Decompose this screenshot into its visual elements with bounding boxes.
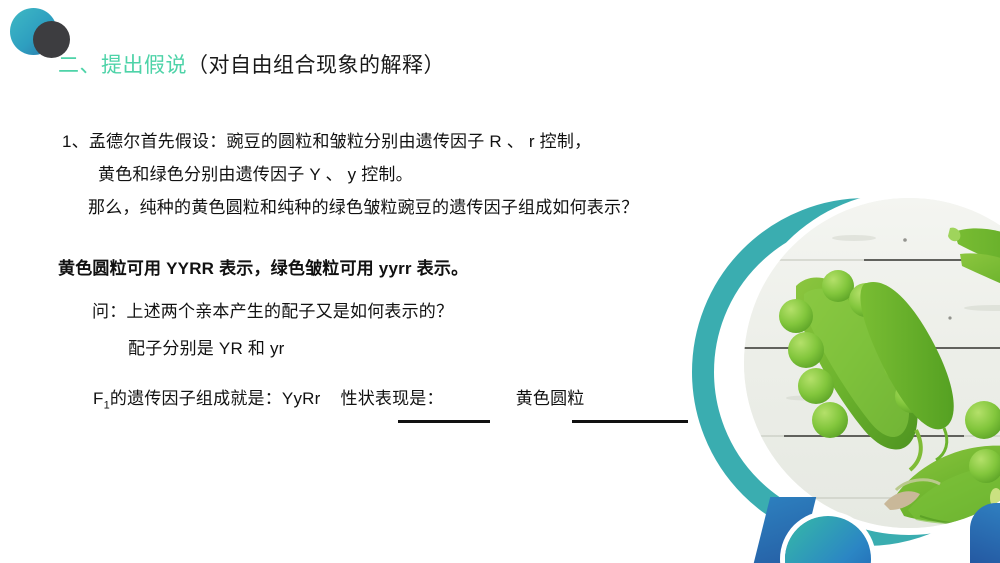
f1-label-prefix: F — [93, 389, 104, 408]
phenotype-answer: 黄色圆粒 — [516, 389, 585, 408]
answer-underline-genotype — [398, 420, 490, 423]
body-line-6-answer: 配子分别是 YR 和 yr — [128, 337, 285, 361]
heading-plain-text: （对自由组合现象的解释） — [187, 54, 445, 77]
slide-heading: 二、提出假说（对自由组合现象的解释） — [58, 52, 445, 80]
body-line-3: 那么，纯种的黄色圆粒和纯种的绿色皱粒豌豆的遗传因子组成如何表示？ — [88, 196, 638, 220]
body-line-4-emphasis: 黄色圆粒可用 YYRR 表示，绿色皱粒可用 yyrr 表示。 — [58, 257, 468, 281]
body-line-2: 黄色和绿色分别由遗传因子 Y 、 y 控制。 — [98, 163, 413, 187]
slide-canvas: 二、提出假说（对自由组合现象的解释） 1、孟德尔首先假设：豌豆的圆粒和皱粒分别由… — [0, 0, 1000, 563]
f1-label-rest: 的遗传因子组成就是： — [110, 389, 282, 408]
f1-genotype-answer: YyRr — [282, 389, 321, 408]
phenotype-label: 性状表现是： — [341, 389, 444, 408]
heading-accent-text: 二、提出假说 — [58, 54, 187, 77]
body-line-5-question: 问：上述两个亲本产生的配子又是如何表示的？ — [92, 300, 453, 324]
f1-summary-line: F1的遗传因子组成就是：YyRr性状表现是：黄色圆粒 — [93, 387, 585, 417]
photo-composition — [660, 170, 1000, 563]
body-line-1: 1、孟德尔首先假设：豌豆的圆粒和皱粒分别由遗传因子 R 、 r 控制， — [62, 130, 591, 154]
